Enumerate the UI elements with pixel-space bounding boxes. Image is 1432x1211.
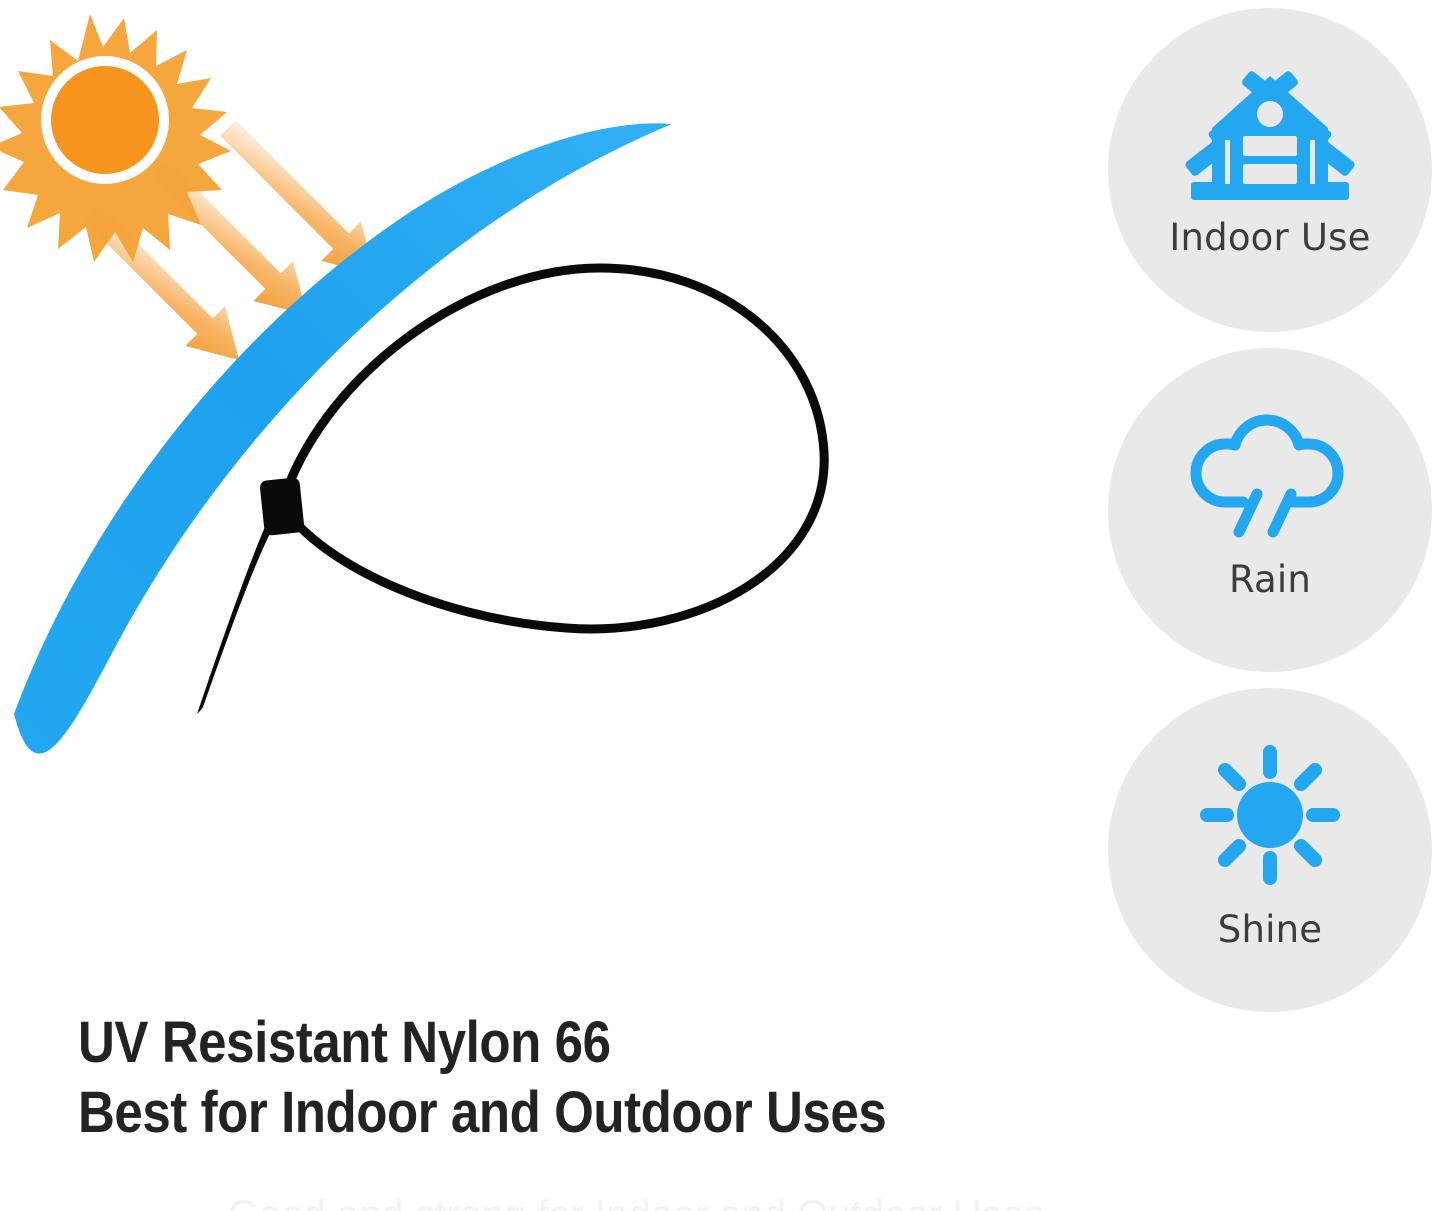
house-icon [1185, 56, 1355, 206]
clipped-footer-text: Good and strong for Indoor and Outdoor U… [228, 1192, 1128, 1211]
clipped-footer-label: Good and strong for Indoor and Outdoor U… [228, 1192, 1128, 1211]
feature-badge-rain: Rain [1108, 348, 1432, 672]
feature-badge-column: Indoor Use Rain [1108, 8, 1432, 1020]
headline-line-1: UV Resistant Nylon 66 [78, 1008, 923, 1078]
headline-line-2: Best for Indoor and Outdoor Uses [78, 1078, 923, 1148]
badge-label-shine: Shine [1218, 908, 1322, 951]
badge-label-rain: Rain [1229, 558, 1311, 601]
sun-shine-icon [1185, 740, 1355, 890]
rain-cloud-icon [1185, 398, 1355, 548]
badge-label-indoor-use: Indoor Use [1169, 216, 1370, 259]
feature-badge-indoor-use: Indoor Use [1108, 8, 1432, 332]
headline-block: UV Resistant Nylon 66 Best for Indoor an… [78, 1008, 1038, 1148]
feature-badge-shine: Shine [1108, 688, 1432, 1012]
uv-resistance-illustration [0, 0, 1080, 1000]
product-infographic: UV Resistant Nylon 66 Best for Indoor an… [0, 0, 1432, 1211]
